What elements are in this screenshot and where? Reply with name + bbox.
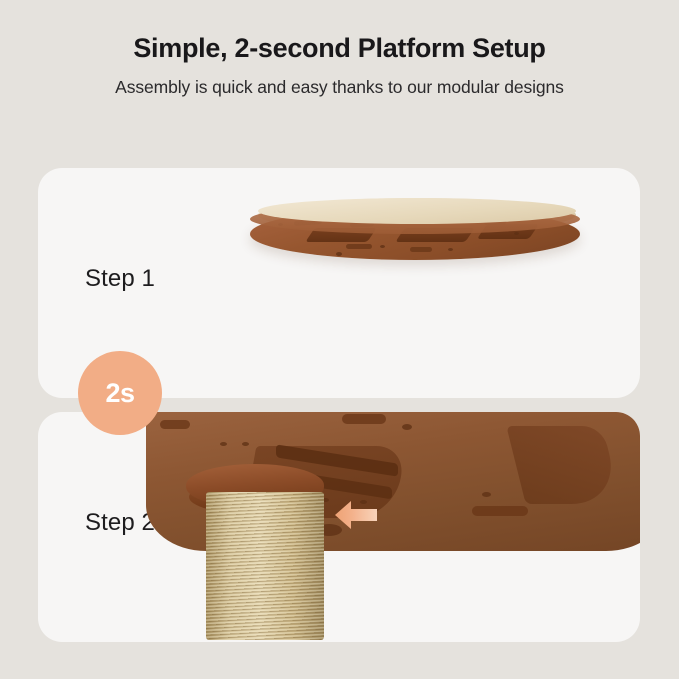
mounting-slot — [472, 506, 528, 516]
screw-hole — [402, 424, 412, 430]
screw-hole — [380, 245, 385, 248]
screw-hole — [482, 492, 491, 497]
screw-hole — [336, 252, 342, 256]
screw-hole — [514, 232, 519, 235]
mounting-slot — [346, 244, 372, 249]
product-infographic: Simple, 2-second Platform Setup Assembly… — [0, 0, 679, 679]
duration-badge: 2s — [78, 351, 162, 435]
left-arrow-icon — [334, 500, 378, 530]
screw-hole — [220, 442, 227, 446]
platform-board — [246, 198, 586, 268]
mounting-slot — [410, 247, 432, 252]
screw-hole — [448, 248, 453, 251]
sisal-rope-wrap — [206, 492, 324, 640]
mounting-slot — [160, 420, 190, 429]
screw-hole — [242, 442, 249, 446]
page-subtitle: Assembly is quick and easy thanks to our… — [0, 77, 679, 98]
duration-badge-label: 2s — [105, 378, 134, 409]
step-2-illustration — [38, 412, 640, 642]
header: Simple, 2-second Platform Setup Assembly… — [0, 0, 679, 98]
platform-top-face — [258, 198, 576, 224]
step-2-card: Step 2 — [38, 412, 640, 642]
page-title: Simple, 2-second Platform Setup — [0, 32, 679, 64]
rail-pocket — [506, 426, 621, 504]
mounting-slot — [342, 414, 386, 424]
